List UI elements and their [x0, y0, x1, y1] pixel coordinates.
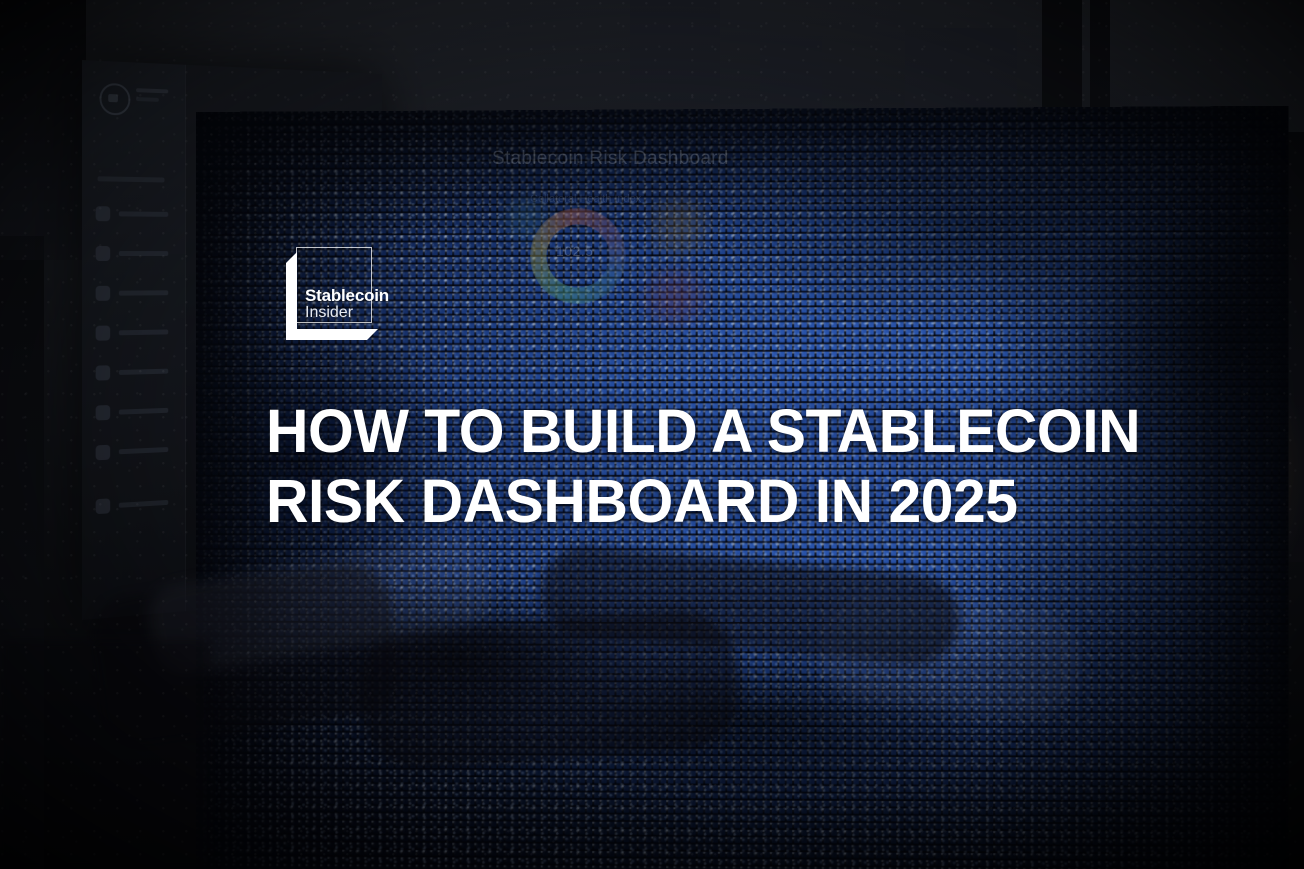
title-card: Stablecoin Risk Dashboard Reserve Compos… [0, 0, 1304, 869]
monitor-center-widget-glow [648, 196, 710, 258]
logo-name: Stablecoin [305, 287, 389, 305]
page-title: HOW TO BUILD A STABLECOIN RISK DASHBOARD… [266, 396, 1066, 536]
globe-icon [96, 286, 111, 301]
monitor-left-app-logo-icon [100, 83, 131, 116]
logo-subname: Insider [305, 305, 389, 321]
headline-line-1: HOW TO BUILD A STABLECOIN [266, 396, 1038, 466]
monitor-center-widget-glow [640, 268, 710, 326]
monitor-center-widget-glow [500, 196, 552, 242]
headline-line-2: RISK DASHBOARD IN 2025 [266, 466, 1038, 536]
gear-icon [96, 445, 111, 461]
monitor-left-nav-item [96, 403, 169, 421]
monitor-center-donut-value: 102.5 [556, 243, 594, 259]
foreground-silhouette [0, 640, 210, 869]
monitor-left-nav-item [96, 364, 169, 381]
monitor-left-nav-item [96, 206, 169, 222]
logo-wordmark: Stablecoin Insider [305, 287, 389, 321]
monitor-left-nav-item [96, 285, 169, 300]
wallet-icon [96, 326, 111, 341]
shield-icon [96, 206, 111, 221]
monitor-center-subtitle: Collateral Health Index [530, 193, 641, 205]
help-icon [96, 498, 111, 514]
report-icon [96, 405, 111, 420]
monitor-left-nav-item [96, 246, 169, 261]
alert-icon [96, 365, 111, 380]
monitor-center-title: Stablecoin Risk Dashboard [492, 148, 729, 170]
monitor-left-nav-item [96, 325, 169, 341]
chart-icon [96, 246, 111, 261]
brand-logo: Stablecoin Insider [275, 245, 387, 345]
monitor-left-brand-line-secondary [136, 97, 159, 102]
